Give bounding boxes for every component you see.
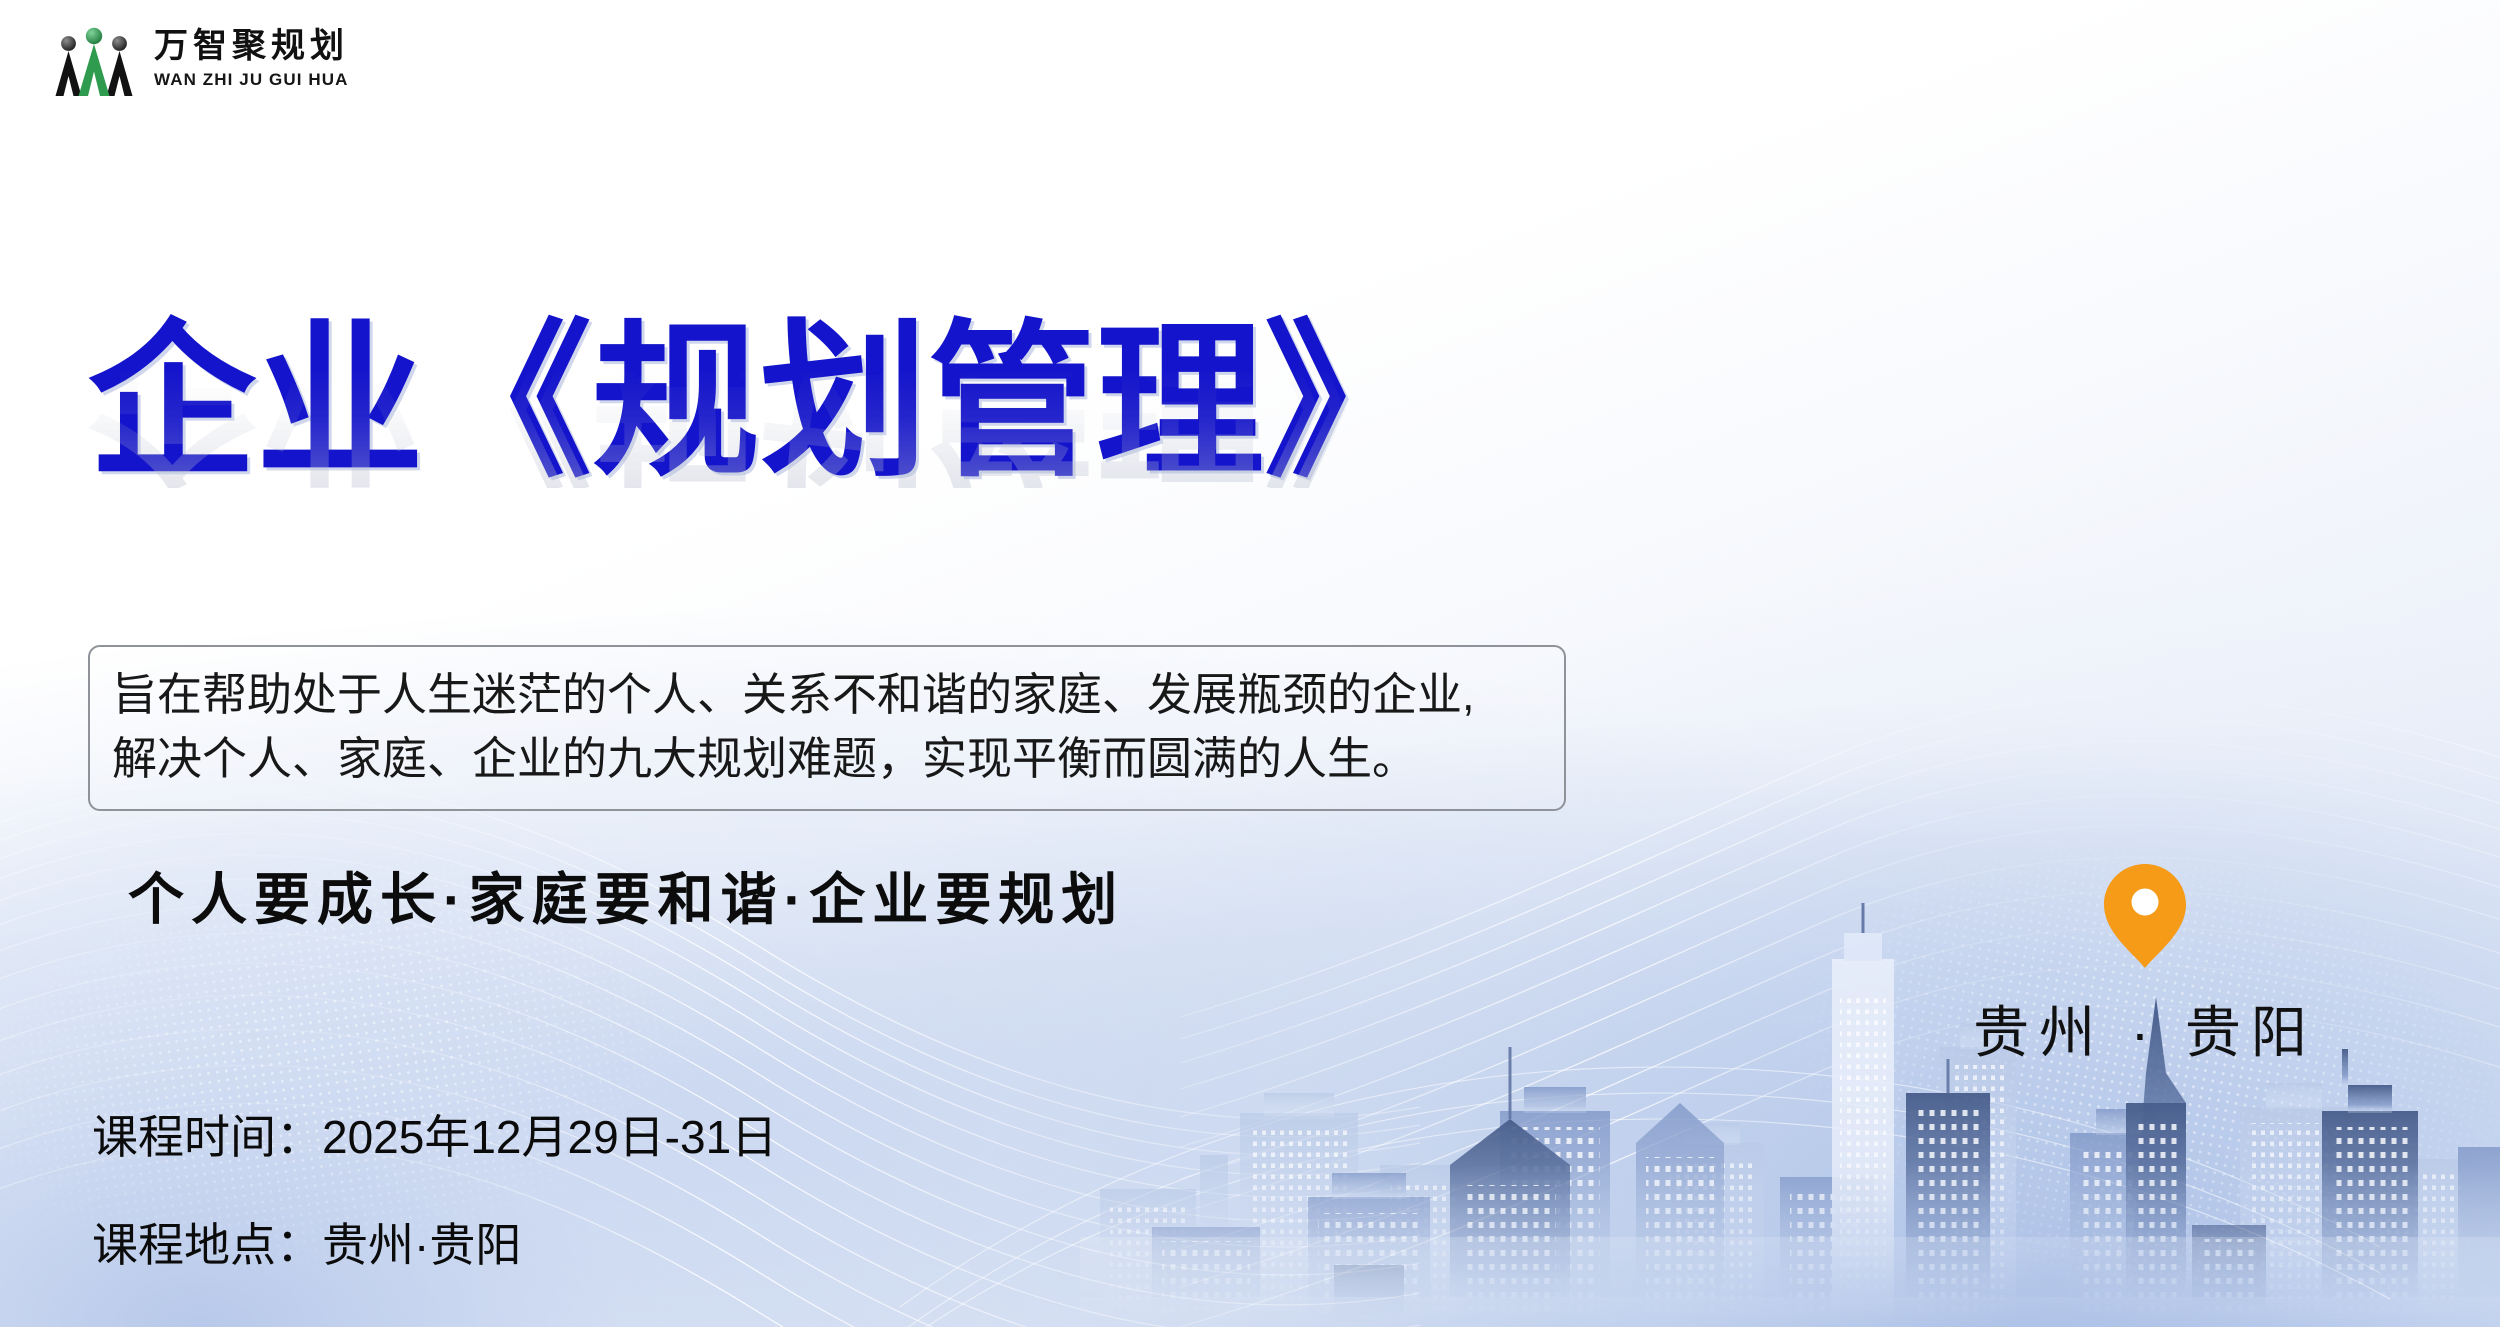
hero-title-block: 企业《规划管理》 企业《规划管理》 (88, 318, 1688, 656)
brand-name-cn: 万智聚规划 (154, 30, 349, 64)
slogan-text: 个人要成长·家庭要和谐·企业要规划 (128, 855, 1124, 936)
location-block: 贵州 · 贵阳 (1955, 862, 2335, 1069)
brand-name-pinyin: WAN ZHI JU GUI HUA (154, 71, 349, 88)
course-info-block: 课程时间：2025年12月29日-31日 课程地点：贵州·贵阳 (92, 1101, 777, 1275)
map-pin-icon (2102, 862, 2188, 970)
description-line-2: 解决个人、家庭、企业的九大规划难题，实现平衡而圆满的人生。 (112, 727, 1542, 791)
course-time: 课程时间：2025年12月29日-31日 (92, 1101, 777, 1167)
description-box: 旨在帮助处于人生迷茫的个人、关系不和谐的家庭、发展瓶颈的企业, 解决个人、家庭、… (88, 645, 1566, 811)
course-place: 课程地点：贵州·贵阳 (92, 1209, 777, 1275)
page-title-reflection: 企业《规划管理》 (88, 320, 1688, 488)
description-line-1: 旨在帮助处于人生迷茫的个人、关系不和谐的家庭、发展瓶颈的企业, (112, 663, 1542, 727)
location-label: 贵州 · 贵阳 (1955, 988, 2335, 1069)
three-people-logo-icon (48, 18, 140, 100)
brand-logo: 万智聚规划 WAN ZHI JU GUI HUA (48, 18, 349, 100)
poster-canvas: 万智聚规划 WAN ZHI JU GUI HUA 企业《规划管理》 企业《规划管… (0, 0, 2500, 1327)
